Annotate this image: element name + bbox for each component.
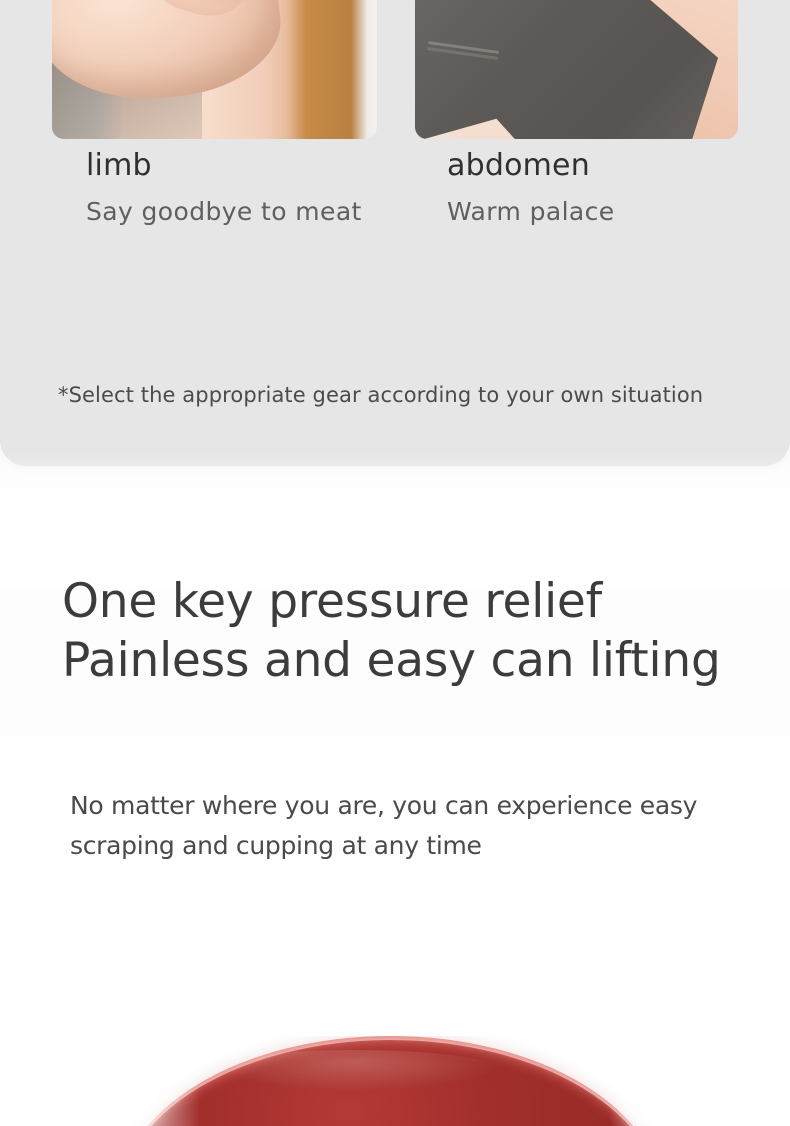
caption-abdomen-title: abdomen <box>447 148 615 184</box>
caption-abdomen: abdomen Warm palace <box>447 148 615 227</box>
product-detail-page: limb Say goodbye to meat abdomen Warm pa… <box>0 0 790 1126</box>
limb-usage-photo <box>52 0 377 139</box>
feature-subcopy-line-2: scraping and cupping at any time <box>70 826 720 866</box>
feature-subcopy: No matter where you are, you can experie… <box>70 786 720 866</box>
red-cupping-device-sheen <box>210 1050 500 1090</box>
feature-headline-line-2: Painless and easy can lifting <box>62 631 762 690</box>
gear-selection-footnote: *Select the appropriate gear according t… <box>58 381 703 409</box>
feature-subcopy-line-1: No matter where you are, you can experie… <box>70 786 720 826</box>
caption-abdomen-subtitle: Warm palace <box>447 197 615 227</box>
panel-bottom-fade <box>0 450 790 590</box>
abdomen-usage-photo <box>415 0 738 139</box>
usage-card-limb[interactable] <box>52 0 377 139</box>
caption-limb-subtitle: Say goodbye to meat <box>86 197 362 227</box>
caption-limb-title: limb <box>86 148 362 184</box>
product-device-preview <box>0 1036 790 1126</box>
feature-headline-line-1: One key pressure relief <box>62 572 762 631</box>
caption-limb: limb Say goodbye to meat <box>86 148 362 227</box>
usage-card-abdomen[interactable] <box>415 0 738 139</box>
feature-headline: One key pressure relief Painless and eas… <box>62 572 762 690</box>
